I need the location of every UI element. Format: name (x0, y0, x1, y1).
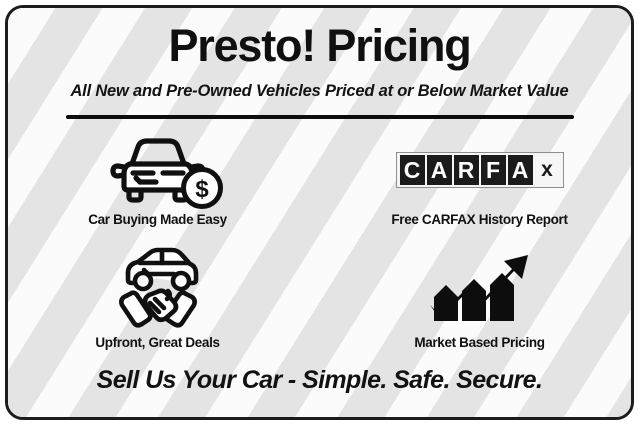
feature-label-upfront-deals: Upfront, Great Deals (5, 335, 313, 350)
banner-subtitle: All New and Pre-Owned Vehicles Priced at… (8, 82, 631, 101)
feature-label-market-pricing: Market Based Pricing (324, 335, 634, 350)
presto-pricing-banner: Presto! Pricing All New and Pre-Owned Ve… (5, 5, 634, 420)
feature-car-buying: $ Car Buying Made Easy (8, 130, 319, 245)
feature-carfax: C A R F A x Free CARFAX History Report (319, 130, 630, 245)
feature-upfront-deals: Upfront, Great Deals (8, 245, 319, 360)
feature-grid: $ Car Buying Made Easy C A R F A x Free … (8, 130, 631, 360)
carfax-letter-r: R (454, 155, 479, 185)
header-divider (66, 115, 574, 119)
feature-label-car-buying: Car Buying Made Easy (5, 212, 313, 227)
page-title: Presto! Pricing (8, 20, 631, 72)
car-front-dollar-icon (5, 130, 313, 210)
banner-content: Presto! Pricing All New and Pre-Owned Ve… (8, 8, 631, 417)
carfax-logo: C A R F A x (396, 152, 564, 188)
feature-label-carfax: Free CARFAX History Report (324, 212, 634, 227)
banner-tagline: Sell Us Your Car - Simple. Safe. Secure. (8, 366, 631, 395)
handshake-car-icon (5, 249, 313, 329)
feature-market-pricing: Market Based Pricing (319, 245, 630, 360)
carfax-logo-icon: C A R F A x (324, 130, 634, 210)
dollar-coin-icon: $ (180, 166, 224, 210)
bar-chart-up-arrow-icon (324, 249, 634, 329)
carfax-letter-a2: A (508, 155, 533, 185)
carfax-letter-f: F (481, 155, 506, 185)
carfax-letter-c: C (400, 155, 425, 185)
carfax-letter-x: x (535, 155, 560, 185)
carfax-letter-a1: A (427, 155, 452, 185)
svg-text:$: $ (195, 176, 209, 203)
